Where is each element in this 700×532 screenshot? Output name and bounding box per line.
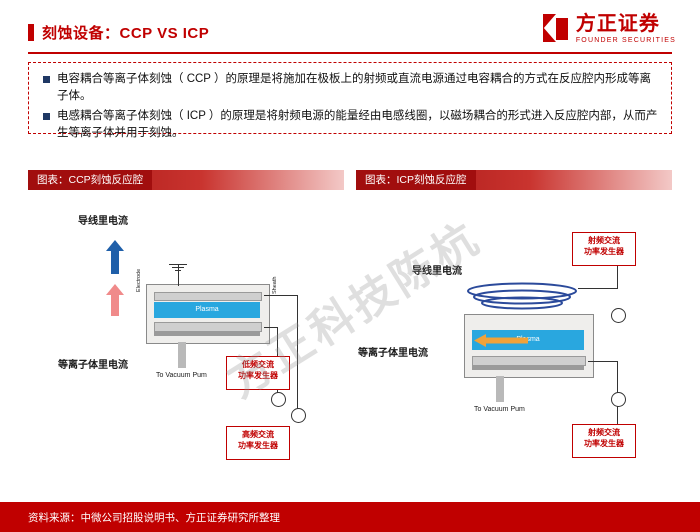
icp-wire-top: [578, 288, 618, 289]
icp-rf-generator-top: 射频交流 功率发生器: [572, 232, 636, 266]
ccp-low-freq-generator: 低频交流 功率发生器: [226, 356, 290, 390]
chart-caption-left-label: 图表：CCP刻蚀反应腔: [28, 170, 152, 190]
icp-plasma-current-label: 等离子体里电流: [358, 344, 428, 359]
list-item: 电容耦合等离子体刻蚀（ CCP ）的原理是将施加在极板上的射频或直流电源通过电容…: [43, 71, 659, 104]
bullet-square-icon: [43, 113, 50, 120]
icp-diagram: 导线里电流 等离子体里电流 Plasma To Vacuum Pum: [356, 196, 672, 486]
ccp-high-freq-generator: 高频交流 功率发生器: [226, 426, 290, 460]
ccp-ground-bar1: [169, 264, 187, 265]
ccp-ac-source-low-icon: [271, 392, 286, 407]
title-text: 刻蚀设备：CCP VS ICP: [42, 22, 209, 43]
ccp-wire-right-vertical: [297, 295, 298, 415]
ccp-upper-electrode: [154, 292, 262, 301]
ccp-sheath-label: Sheath: [272, 277, 278, 294]
title-accent-bar: [28, 24, 34, 41]
bullet-text: 电容耦合等离子体刻蚀（ CCP ）的原理是将施加在极板上的射频或直流电源通过电容…: [57, 71, 659, 104]
header-divider: [28, 52, 672, 54]
icp-rf-generator-top-label: 射频交流 功率发生器: [573, 233, 635, 258]
ccp-diagram: 导线里电流 等离子体里电流 Plasma Electrode Sheath To…: [28, 196, 344, 486]
icp-lower-electrode: [472, 356, 586, 366]
summary-box: 电容耦合等离子体刻蚀（ CCP ）的原理是将施加在极板上的射频或直流电源通过电容…: [28, 62, 672, 134]
ccp-electrode-label: Electrode: [136, 269, 142, 292]
ccp-ground-bar3: [175, 270, 181, 271]
bullet-text: 电感耦合等离子体刻蚀（ ICP ）的原理是将射频电源的能量经由电感线圈，以磁场耦…: [57, 108, 659, 141]
icp-ac-source-bottom-icon: [611, 392, 626, 407]
slide-root: 刻蚀设备：CCP VS ICP 方正证券 FOUNDER SECURITIES …: [0, 0, 700, 532]
logo-name-cn: 方正证券: [576, 14, 676, 34]
ccp-wire-mid: [264, 327, 278, 328]
ccp-ground-bar2: [172, 267, 184, 268]
slide-header: 刻蚀设备：CCP VS ICP 方正证券 FOUNDER SECURITIES: [0, 0, 700, 60]
icp-vacuum-pipe: [496, 376, 504, 402]
icp-ac-source-top-icon: [611, 308, 626, 323]
ccp-high-freq-generator-label: 高频交流 功率发生器: [227, 427, 289, 452]
source-note: 资料来源：中微公司招股说明书、方正证券研究所整理: [28, 510, 280, 525]
chart-caption-right: 图表：ICP刻蚀反应腔: [356, 170, 672, 190]
ccp-wire-top: [264, 295, 298, 296]
ccp-plasma-region: Plasma: [154, 302, 260, 318]
icp-rf-generator-bottom-label: 射频交流 功率发生器: [573, 425, 635, 450]
logo-name-en: FOUNDER SECURITIES: [576, 37, 676, 44]
ccp-low-freq-generator-label: 低频交流 功率发生器: [227, 357, 289, 382]
logo-wordmark: 方正证券 FOUNDER SECURITIES: [576, 14, 676, 44]
logo-mark-icon: [543, 14, 569, 44]
icp-vacuum-label: To Vacuum Pum: [474, 406, 525, 413]
page-title: 刻蚀设备：CCP VS ICP: [28, 22, 209, 43]
icp-plasma-flow-arrow-icon: [474, 334, 528, 347]
ccp-plasma-label: Plasma: [154, 306, 260, 313]
ccp-lower-electrode: [154, 322, 262, 332]
ccp-ac-source-high-icon: [291, 408, 306, 423]
icp-wire-current-label: 导线里电流: [412, 262, 462, 277]
ccp-base-plate: [154, 332, 260, 336]
icp-rf-generator-bottom: 射频交流 功率发生器: [572, 424, 636, 458]
icp-base-plate: [472, 366, 584, 370]
ccp-wire-current-label: 导线里电流: [78, 212, 128, 227]
chart-caption-right-label: 图表：ICP刻蚀反应腔: [356, 170, 476, 190]
icp-coil-icon: [464, 282, 580, 312]
icp-wire-bottom: [588, 361, 618, 362]
chart-caption-left: 图表：CCP刻蚀反应腔: [28, 170, 344, 190]
company-logo: 方正证券 FOUNDER SECURITIES: [543, 14, 676, 44]
ccp-plasma-current-label: 等离子体里电流: [58, 356, 128, 371]
list-item: 电感耦合等离子体刻蚀（ ICP ）的原理是将射频电源的能量经由电感线圈，以磁场耦…: [43, 108, 659, 141]
slide-footer: 资料来源：中微公司招股说明书、方正证券研究所整理: [0, 502, 700, 532]
bullet-square-icon: [43, 76, 50, 83]
